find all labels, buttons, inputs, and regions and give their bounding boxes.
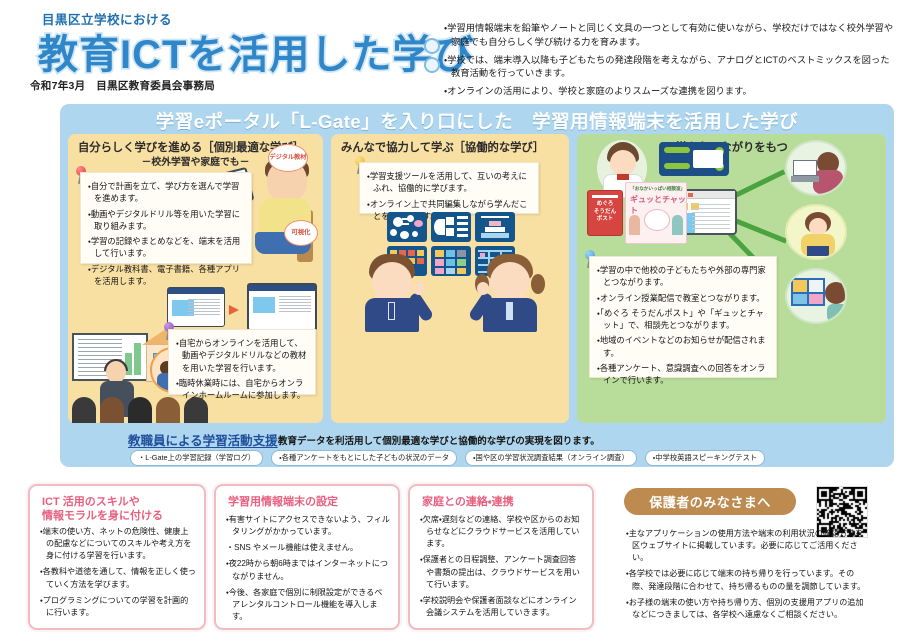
illustration-chat-card xyxy=(659,142,729,176)
illustration-chat-flyer: 「おなかいっぱい相談室」 ギュッとチャット xyxy=(625,182,687,244)
note-individual-learning: ・自分で計画を立て、学び方を選んで学習を進めます。 ・動画やデジタルドリル等を用… xyxy=(80,172,252,264)
support-chip[interactable]: ・国や区の学習状況調査結果（オンライン調査） xyxy=(465,450,637,466)
bullet-item: ・端末の使い方、ネットの危険性、健康上の配慮などについてのスキルや考え方を身に付… xyxy=(40,526,196,562)
node-student-desk xyxy=(785,204,847,260)
bottom-box-device-settings: 学習用情報端末の設定 ・有害サイトにアクセスできないよう、フィルタリングがかかっ… xyxy=(214,484,400,630)
bullet-item: ・今後、各家庭で個別に制限設定ができるペアレンタルコントロール機能を導入します。 xyxy=(226,587,390,623)
note-item: ・「めぐろ そうだんポスト」や「ギュッとチャット」で、相談先とつながります。 xyxy=(597,307,768,332)
header-bullet: ・学校では、端末導入以降も子どもたちの発達段階を考えながら、アナログとICTのベ… xyxy=(444,54,896,82)
tool-icon-pyramid xyxy=(475,212,515,242)
note-item: ・各種アンケート、意識調査への回答をオンラインで行います。 xyxy=(597,362,768,387)
bullet-item: ・主なアプリケーションの使用方法や端末の利用状況の確認方法を区ウェブサイトに掲載… xyxy=(626,528,868,564)
node-student-laptop xyxy=(785,140,847,196)
bullet-item: ・学校説明会や保護者面談などにオンライン会議システムを活用していきます。 xyxy=(420,595,584,619)
bottom-box3-body: ・欠席・遅刻などの連絡、学校や区からのお知らせなどにクラウドサービスを活用してい… xyxy=(420,514,584,623)
panel-title: 学習eポータル「L-Gate」を入り口にした 学習用情報端末を活用した学び xyxy=(60,108,894,134)
main-blue-panel: 学習eポータル「L-Gate」を入り口にした 学習用情報端末を活用した学び 自分… xyxy=(60,104,894,467)
note-connections: ・学習の中で他校の子どもたちや外部の専門家とつながります。 ・オンライン授業配信… xyxy=(589,256,777,378)
support-chip[interactable]: ・中学校英語スピーキングテスト xyxy=(645,450,765,466)
teacher-support-bar: 教職員による学習活動支援 教育データを利活用して個別最適な学びと協働的な学びの実… xyxy=(68,430,886,466)
bullet-item: ・有害サイトにアクセスできないよう、フィルタリングがかかっています。 xyxy=(226,514,390,538)
tag-digital-material: デジタル教材 xyxy=(268,144,308,172)
bullet-item: ・SNS やメール機能は使えません。 xyxy=(226,542,390,554)
illustration-meguro-post: めぐろ そうだん ポスト xyxy=(587,190,623,236)
node-video-class xyxy=(785,268,847,324)
note-item: ・学習の記録やまとめなどを、端末を活用して行います。 xyxy=(88,235,243,260)
bottom-box-guardians: 保護者のみなさまへ ・主なアプリケーションの使用方法や端末の利用状況の確認方法を… xyxy=(620,484,872,630)
student-girl xyxy=(479,252,541,330)
publication-date: 令和7年3月 目黒区教育委員会事務局 xyxy=(30,78,215,93)
note-item: ・オンライン授業配信で教室とつながります。 xyxy=(597,292,768,304)
note-item: ・自宅からオンラインを活用して、動画やデジタルドリルなどの教材を用いた学習を行い… xyxy=(176,337,307,374)
flyer-subtitle: 「おなかいっぱい相談室」 xyxy=(630,186,685,192)
note-item: ・学習支援ツールを活用して、互いの考えにふれ、協働的に学びます。 xyxy=(367,170,530,195)
support-text: 教育データを利活用して個別最適な学びと協働的な学びの実現を図ります。 xyxy=(278,433,600,447)
note-item: ・動画やデジタルドリル等を用いた学習に取り組みます。 xyxy=(88,208,243,233)
bullet-item: ・夜22時から朝6時まではインターネットにつながりません。 xyxy=(226,558,390,582)
bottom-box3-heading: 家庭との連絡・連携 xyxy=(422,495,584,509)
bottom-box4-body: ・主なアプリケーションの使用方法や端末の利用状況の確認方法を区ウェブサイトに掲載… xyxy=(626,528,868,625)
postbox-label: めぐろ そうだん ポスト xyxy=(594,201,616,222)
support-chip-list: ・L-Gate上の学習記録（学習ログ） ・各種アンケートをもとにした子どもの状況… xyxy=(130,450,765,466)
column-individual-learning: 自分らしく学びを進める［個別最適な学び］ －校外学習や家庭でも－ デジタル教材 … xyxy=(68,134,323,423)
bottom-box1-heading: ICT 活用のスキルや 情報モラルを身に付ける xyxy=(42,495,196,524)
column-collaborative-learning: みんなで協力して学ぶ［協働的な学び］ ・学習支援ツールを活用して、互いの考えにふ… xyxy=(331,134,569,423)
bullet-item: ・各学校では必要に応じて端末の持ち帰りを行っています。その際、発達段階に合わせて… xyxy=(626,568,868,592)
header-decor-circles xyxy=(424,38,446,78)
support-chip[interactable]: ・L-Gate上の学習記録（学習ログ） xyxy=(130,450,263,466)
page-title: 教育ICTを活用した学び xyxy=(38,22,474,80)
note-item: ・自分で計画を立て、学び方を選んで学習を進めます。 xyxy=(88,180,243,205)
header-bullet: ・オンラインの活用により、学校と家庭のよりスムーズな連携を図ります。 xyxy=(444,85,896,99)
support-chip[interactable]: ・各種アンケートをもとにした子どもの状況のデータ xyxy=(271,450,457,466)
poster-page: 目黒区立学校における 教育ICTを活用した学び 令和7年3月 目黒区教育委員会事… xyxy=(0,0,900,635)
bullet-item: ・欠席・遅刻などの連絡、学校や区からのお知らせなどにクラウドサービスを活用してい… xyxy=(420,514,584,550)
guardians-heading-pill: 保護者のみなさまへ xyxy=(624,488,796,515)
bullet-item: ・各教科や道徳を通して、情報を正しく使っていく方法を学びます。 xyxy=(40,566,196,590)
column-b-heading: みんなで協力して学ぶ［協働的な学び］ xyxy=(331,139,569,155)
bottom-box1-body: ・端末の使い方、ネットの危険性、健康上の配慮などについてのスキルや考え方を身に付… xyxy=(40,526,196,623)
poster-header: 目黒区立学校における 教育ICTを活用した学び 令和7年3月 目黒区教育委員会事… xyxy=(0,0,900,100)
bullet-item: ・保護者との日程調整、アンケート調査回答や書類の提出は、クラウドサービスを用いて… xyxy=(420,554,584,590)
note-home-online: ・自宅からオンラインを活用して、動画やデジタルドリルなどの教材を用いた学習を行い… xyxy=(168,329,316,395)
tool-icon-compare xyxy=(431,212,471,242)
bottom-box-home-liaison: 家庭との連絡・連携 ・欠席・遅刻などの連絡、学校や区からのお知らせなどにクラウド… xyxy=(408,484,594,630)
bottom-box-ict-skills: ICT 活用のスキルや 情報モラルを身に付ける ・端末の使い方、ネットの危険性、… xyxy=(28,484,206,630)
note-collaborative-learning: ・学習支援ツールを活用して、互いの考えにふれ、協働的に学びます。 ・オンライン上… xyxy=(359,162,539,214)
bullet-item: ・プログラミングについての学習を計画的に行います。 xyxy=(40,595,196,619)
tag-visualization: 可視化 xyxy=(284,220,318,246)
student-boy xyxy=(361,252,423,330)
note-item: ・学習の中で他校の子どもたちや外部の専門家とつながります。 xyxy=(597,264,768,289)
tool-icon-mindmap xyxy=(387,212,427,242)
column-connections: 様々なつながりをもつ xyxy=(577,134,886,423)
note-item: ・臨時休業時には、自宅からオンラインホームルームに参加します。 xyxy=(176,377,307,402)
note-item: ・地域のイベントなどのお知らせが配信されます。 xyxy=(597,334,768,359)
bullet-item: ・お子様の端末の使い方や持ち帰り方、個別の支援用アプリの追加などにつきましては、… xyxy=(626,597,868,621)
bottom-box2-heading: 学習用情報端末の設定 xyxy=(228,495,390,509)
illustration-two-students xyxy=(361,252,541,330)
bottom-box2-body: ・有害サイトにアクセスできないよう、フィルタリングがかかっています。 ・SNS … xyxy=(226,514,390,627)
header-bullet: ・学習用情報端末を鉛筆やノートと同じく文具の一つとして有効に使いながら、学校だけ… xyxy=(444,22,896,50)
header-bullet-list: ・学習用情報端末を鉛筆やノートと同じく文具の一つとして有効に使いながら、学校だけ… xyxy=(444,22,896,103)
support-heading: 教職員による学習活動支援 xyxy=(128,430,278,449)
